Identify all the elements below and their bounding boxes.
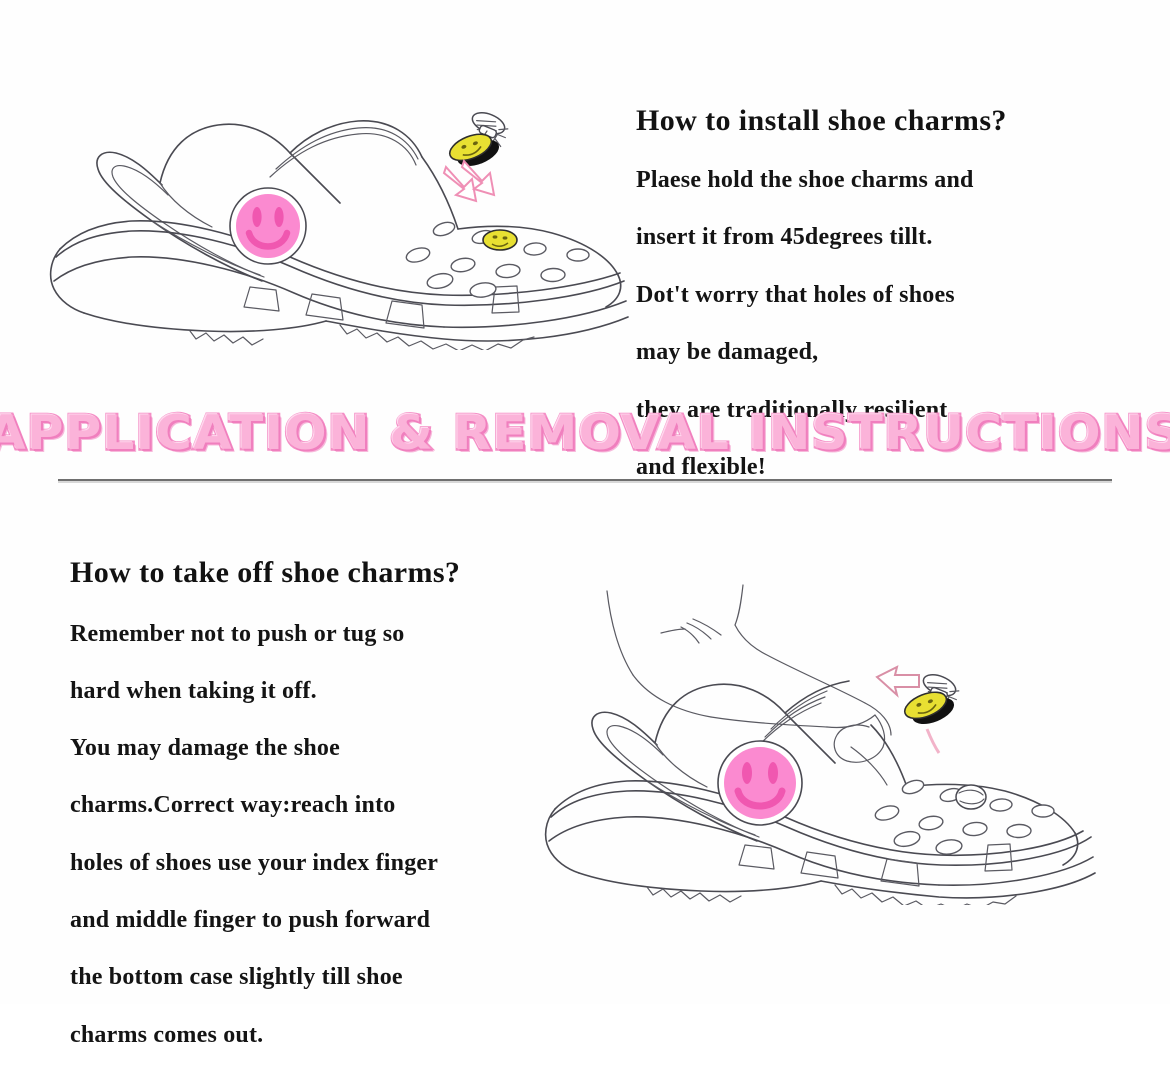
removal-line-3: You may damage the shoe [70, 732, 570, 765]
charm-being-removed [877, 667, 962, 753]
removal-text-block: How to take off shoe charms? Remember no… [70, 556, 570, 1076]
removal-line-1: Remember not to push or tug so [70, 618, 570, 651]
yellow-charm-installed [483, 230, 517, 250]
removal-illustration [535, 575, 1135, 905]
install-line-4: may be damaged, [636, 336, 1106, 370]
insert-arrow-icon [444, 161, 494, 201]
removal-line-6: and middle finger to push forward [70, 904, 570, 937]
pink-smiley-charm-install [228, 186, 308, 266]
instruction-sheet: How to install shoe charms? Plaese hold … [0, 0, 1170, 1004]
banner-title: APPLICATION & REMOVAL INSTRUCTIONS [0, 410, 1170, 457]
install-line-1: Plaese hold the shoe charms and [636, 164, 1106, 198]
charm-emerging-from-hole [956, 785, 986, 809]
removal-line-8: charms comes out. [70, 1019, 570, 1052]
remove-arrow-icon [877, 667, 919, 695]
removal-line-4: charms.Correct way:reach into [70, 789, 570, 822]
install-line-2: insert it from 45degrees tillt. [636, 221, 1106, 255]
install-illustration [40, 95, 640, 350]
install-heading: How to install shoe charms? [636, 104, 1106, 138]
pink-smiley-charm [718, 741, 802, 825]
charm-being-inserted [444, 109, 511, 201]
banner: APPLICATION & REMOVAL INSTRUCTIONS [0, 398, 1170, 468]
install-pink-smiley-charm-wrapper [228, 186, 308, 266]
section-divider [58, 479, 1112, 481]
removal-line-2: hard when taking it off. [70, 675, 570, 708]
install-line-3: Dot't worry that holes of shoes [636, 279, 1106, 313]
clog-shoe-removal-diagram [535, 575, 1135, 905]
removal-line-5: holes of shoes use your index finger [70, 847, 570, 880]
removal-heading: How to take off shoe charms? [70, 556, 570, 590]
clog-shoe-install-diagram [40, 95, 640, 350]
removal-line-7: the bottom case slightly till shoe [70, 961, 570, 994]
